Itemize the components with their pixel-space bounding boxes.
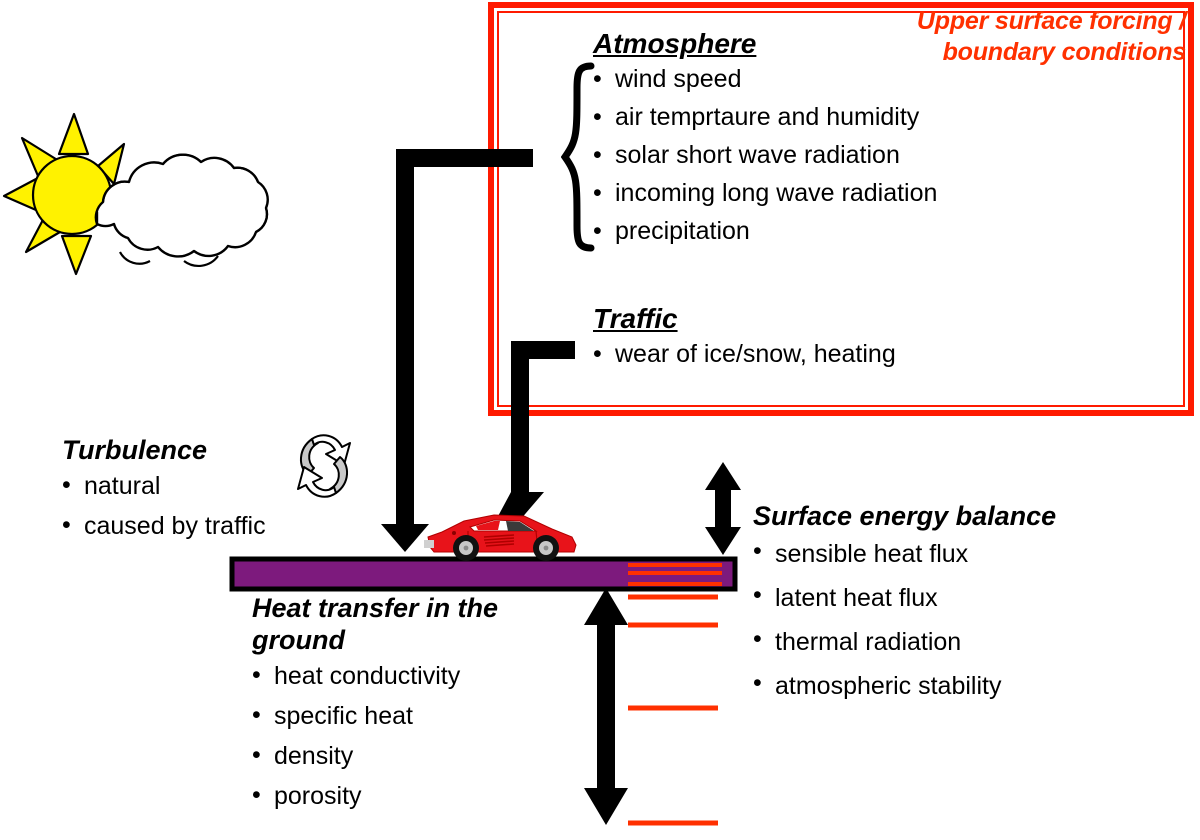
forcing-box-title: Upper surface forcing / boundary conditi…	[917, 6, 1186, 68]
red-sports-car-icon	[424, 507, 579, 562]
diagram-canvas: Upper surface forcing / boundary conditi…	[0, 0, 1200, 840]
road-surface	[0, 0, 1200, 840]
